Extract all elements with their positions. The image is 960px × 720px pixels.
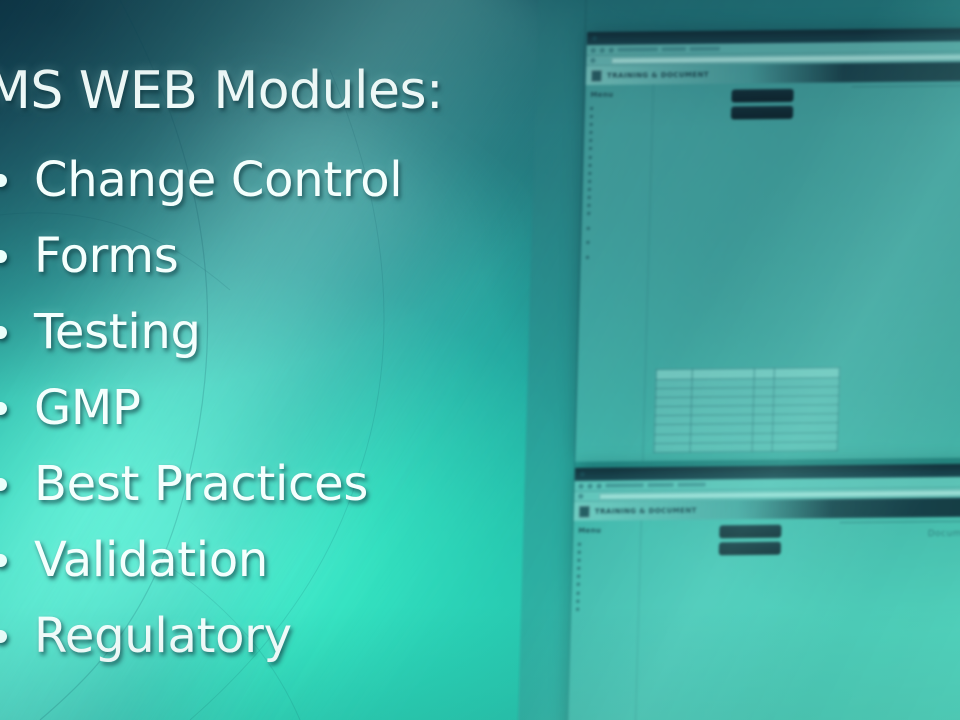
table-row[interactable]	[654, 441, 837, 452]
forward-icon[interactable]	[588, 483, 593, 488]
sidebar-footer-label	[593, 226, 603, 231]
window-icon	[592, 36, 597, 41]
panel-note	[851, 93, 960, 100]
forward-icon[interactable]	[600, 47, 605, 52]
bullet-icon	[589, 147, 592, 150]
sidebar-item[interactable]	[589, 130, 647, 136]
tree-item[interactable]	[707, 131, 960, 139]
sidebar-subheading	[578, 539, 636, 540]
app-body-bottom: Menu	[566, 516, 960, 720]
browser-window-bottom[interactable]: TRAINING & DOCUMENT Menu	[566, 463, 960, 720]
sidebar-item[interactable]	[589, 154, 647, 160]
toolbar-label-view[interactable]	[690, 47, 720, 51]
sidebar-footer-label	[592, 254, 606, 259]
list-item: Change Control	[0, 142, 402, 218]
app-logo-icon	[579, 505, 590, 517]
cell-rev	[752, 442, 772, 451]
sidebar-item-label	[594, 195, 607, 200]
content-area-bottom: Document List	[634, 516, 960, 720]
browser-window-top[interactable]: TRAINING & DOCUMENT Menu	[575, 28, 960, 462]
sidebar-item[interactable]	[577, 557, 635, 563]
panel-note-3	[851, 113, 960, 120]
sidebar-item-label	[595, 138, 608, 143]
bullet-icon	[590, 123, 593, 126]
bullet-icon	[588, 172, 591, 175]
bullet-icon	[588, 196, 591, 199]
list-item-label: GMP	[34, 380, 141, 436]
cell-id	[656, 379, 692, 389]
bullet-icon	[0, 630, 7, 643]
bullet-icon	[0, 250, 7, 263]
cell-rev	[754, 387, 774, 396]
tree-item[interactable]	[707, 147, 960, 155]
sidebar-item-label	[594, 162, 603, 167]
app-logo-icon	[591, 69, 602, 81]
bullet-icon	[577, 583, 580, 586]
bullet-icon	[588, 188, 591, 191]
sidebar-item[interactable]	[588, 178, 646, 184]
bullet-icon	[587, 204, 590, 207]
sidebar-item[interactable]	[577, 582, 635, 588]
monitor-screen-photo: TRAINING & DOCUMENT Menu	[517, 0, 960, 720]
sidebar-item-label	[595, 146, 613, 151]
sidebar-item[interactable]	[587, 211, 645, 217]
sidebar-footer-item[interactable]	[587, 226, 645, 232]
address-icon	[578, 494, 583, 499]
tree-item[interactable]	[707, 155, 960, 163]
cell-id	[654, 443, 690, 453]
secondary-action-button[interactable]	[719, 542, 781, 556]
sidebar-heading: Menu	[578, 526, 636, 535]
bullet-icon	[0, 402, 7, 415]
list-item: GMP	[0, 370, 402, 446]
sidebar-bottom[interactable]: Menu	[566, 520, 642, 720]
panel-divider-top	[840, 520, 960, 523]
sidebar-item[interactable]	[576, 606, 634, 612]
sidebar-item[interactable]	[590, 105, 648, 111]
bullet-icon	[577, 559, 580, 562]
bullet-icon	[577, 567, 580, 570]
app-title: TRAINING & DOCUMENT	[607, 70, 709, 79]
sidebar-footer-label	[592, 240, 603, 245]
bullet-icon	[590, 107, 593, 110]
tree-item[interactable]	[707, 139, 960, 147]
sidebar-item-label	[594, 179, 608, 184]
toolbar-label-file[interactable]	[618, 47, 658, 51]
bullet-icon	[590, 115, 593, 118]
secondary-action-button[interactable]	[731, 106, 793, 120]
cell-rev	[753, 424, 773, 433]
content-area-top	[643, 81, 960, 462]
tree-item[interactable]	[706, 163, 960, 171]
reload-icon[interactable]	[609, 47, 614, 52]
sidebar-item-label	[584, 550, 597, 555]
cell-id	[655, 415, 691, 425]
tree-item[interactable]	[695, 572, 960, 580]
address-icon	[590, 58, 595, 63]
sidebar-item-label	[582, 598, 591, 603]
primary-action-button[interactable]	[731, 89, 793, 103]
bullet-icon	[0, 326, 7, 339]
action-button-group-bottom[interactable]	[719, 525, 782, 556]
info-panel-top	[851, 85, 960, 120]
toolbar-label-file[interactable]	[606, 483, 644, 487]
sidebar-heading: Menu	[590, 90, 648, 99]
sidebar-item[interactable]	[577, 574, 635, 580]
bullet-icon	[577, 591, 580, 594]
bullet-icon	[578, 543, 581, 546]
video-frame: TRAINING & DOCUMENT Menu	[0, 0, 960, 720]
bullet-icon	[588, 164, 591, 167]
sidebar-top[interactable]: Menu	[575, 84, 654, 462]
sidebar-item-label	[594, 187, 611, 192]
sidebar-item[interactable]	[588, 186, 646, 192]
sidebar-footer-item[interactable]	[586, 240, 644, 246]
sidebar-item[interactable]	[588, 162, 646, 168]
cell-rev	[753, 415, 773, 424]
cell-rev	[752, 433, 772, 442]
navigation-tree-bottom[interactable]	[647, 556, 960, 581]
sidebar-item-label	[583, 582, 601, 587]
sidebar-item[interactable]	[588, 170, 646, 176]
sidebar-item-label	[584, 542, 600, 547]
sidebar-item[interactable]	[587, 202, 645, 208]
panel-divider	[852, 85, 960, 88]
sidebar-item-label	[596, 106, 612, 111]
sidebar-item-label	[593, 211, 607, 216]
bullet-icon	[576, 608, 579, 611]
cell-id	[656, 388, 692, 398]
sidebar-item[interactable]	[590, 122, 648, 128]
reload-icon[interactable]	[597, 483, 602, 488]
module-list: Change Control Forms Testing GMP Best Pr…	[0, 142, 402, 674]
sidebar-item-label	[583, 574, 596, 579]
action-button-group-top[interactable]	[731, 89, 794, 120]
navigation-tree-top[interactable]	[658, 123, 960, 180]
document-table-top[interactable]	[654, 368, 840, 454]
page-title: MS WEB Modules:	[0, 61, 443, 121]
bullet-icon	[586, 255, 589, 258]
sidebar-item-label	[583, 566, 600, 571]
document-list-label: Document List	[839, 528, 960, 540]
list-item: Forms	[0, 218, 402, 294]
document-list-panel: Document List	[839, 520, 960, 540]
bullet-icon	[578, 551, 581, 554]
tree-item[interactable]	[706, 171, 960, 179]
table-header-cell	[656, 370, 692, 380]
sidebar-item[interactable]	[590, 113, 648, 119]
sidebar-item[interactable]	[589, 138, 647, 144]
tree-item[interactable]	[695, 556, 960, 564]
list-item-label: Testing	[34, 304, 201, 360]
list-item: Validation	[0, 522, 402, 598]
cell-id	[655, 406, 691, 416]
cell-rev	[753, 405, 773, 414]
app-body-top: Menu	[575, 81, 960, 462]
app-title: TRAINING & DOCUMENT	[595, 506, 697, 515]
bullet-icon	[589, 139, 592, 142]
sidebar-item[interactable]	[577, 590, 635, 596]
list-item: Testing	[0, 294, 402, 370]
toolbar-label-view[interactable]	[678, 483, 706, 487]
toolbar-label-edit[interactable]	[648, 483, 674, 487]
sidebar-item-label	[596, 122, 610, 127]
sidebar-item[interactable]	[578, 549, 636, 555]
sidebar-subheading	[590, 103, 648, 104]
cell-type	[690, 442, 752, 452]
bullet-icon	[577, 575, 580, 578]
bullet-icon	[586, 241, 589, 244]
sidebar-item-label	[582, 606, 598, 611]
cell-id	[654, 434, 690, 444]
cell-id	[655, 397, 691, 407]
window-icon	[580, 472, 585, 477]
bullet-icon	[587, 212, 590, 215]
bullet-icon	[589, 156, 592, 159]
list-item-label: Change Control	[34, 152, 402, 208]
toolbar-label-edit[interactable]	[662, 47, 686, 51]
bullet-icon	[0, 174, 7, 187]
tree-item[interactable]	[708, 123, 960, 131]
bullet-icon	[576, 599, 579, 602]
sidebar-item-label	[595, 154, 611, 159]
list-item-label: Forms	[34, 228, 178, 284]
bullet-icon	[588, 180, 591, 183]
table-header-cell	[754, 369, 774, 378]
back-icon[interactable]	[579, 483, 584, 488]
list-item-label: Regulatory	[34, 608, 292, 664]
list-item-label: Best Practices	[34, 456, 368, 512]
sidebar-item[interactable]	[577, 565, 635, 571]
sidebar-item-label	[596, 114, 609, 119]
bullet-icon	[0, 478, 7, 491]
sidebar-item[interactable]	[588, 194, 646, 200]
sidebar-item[interactable]	[589, 146, 647, 152]
list-item: Best Practices	[0, 446, 402, 522]
sidebar-item-label	[595, 130, 612, 135]
sidebar-item-label	[583, 590, 599, 595]
cell-title	[772, 441, 837, 451]
sidebar-item-label	[594, 170, 610, 175]
back-icon[interactable]	[591, 47, 596, 52]
cell-rev	[754, 378, 774, 387]
sidebar-item[interactable]	[576, 598, 634, 604]
sidebar-item-label	[593, 203, 609, 208]
cell-rev	[753, 396, 773, 405]
sidebar-footer-item[interactable]	[586, 254, 644, 260]
list-item: Regulatory	[0, 598, 402, 674]
list-item-label: Validation	[34, 532, 268, 588]
cell-id	[655, 425, 691, 435]
sidebar-item-label	[583, 558, 597, 563]
bullet-icon	[587, 227, 590, 230]
slide-text-overlay: MS WEB Modules: Change Control Forms Tes…	[0, 0, 540, 720]
bullet-icon	[0, 554, 7, 567]
primary-action-button[interactable]	[719, 525, 781, 539]
tree-item[interactable]	[695, 564, 960, 572]
bullet-icon	[589, 131, 592, 134]
sidebar-item[interactable]	[578, 541, 636, 547]
panel-note-2	[851, 103, 960, 110]
